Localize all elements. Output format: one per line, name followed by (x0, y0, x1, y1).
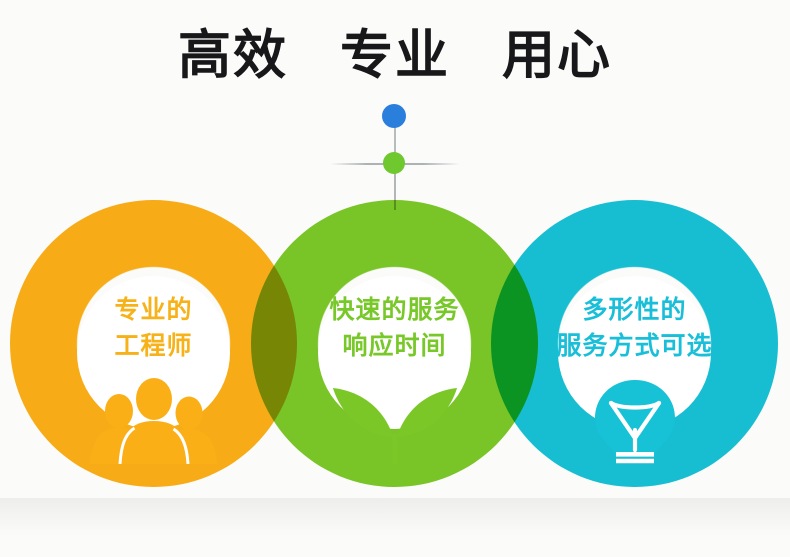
circle-cyan-line-2: 服务方式可选 (491, 328, 778, 364)
lightbulb-icon (491, 378, 778, 468)
circle-cyan-label: 多形性的 服务方式可选 (491, 292, 778, 363)
circle-item-cyan[interactable]: 多形性的 服务方式可选 (491, 200, 778, 487)
circle-cyan-line-1: 多形性的 (491, 292, 778, 328)
infographic-canvas: 高效专业用心 专业的 工程师 (0, 0, 790, 557)
ground-shadow (0, 498, 790, 536)
